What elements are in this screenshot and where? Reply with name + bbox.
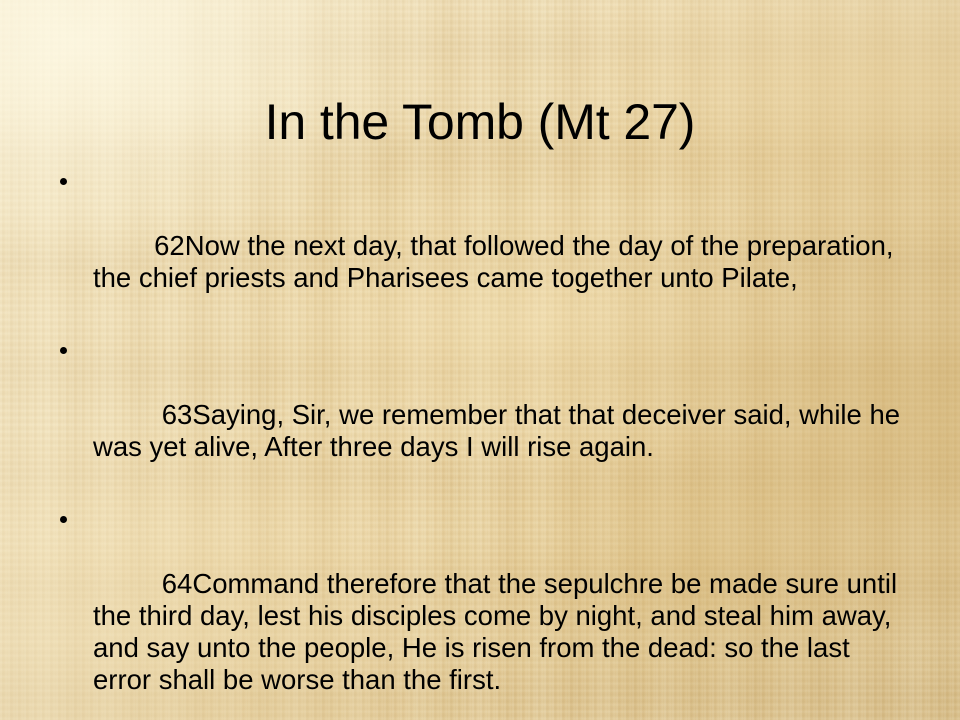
bullet-text: 63Saying, Sir, we remember that that dec… [93,399,908,462]
slide-content: In the Tomb (Mt 27) 62Now the next day, … [0,0,960,720]
bullet-text: 64Command therefore that the sepulchre b… [93,568,905,695]
slide-title: In the Tomb (Mt 27) [0,92,960,152]
scripture-bullet-list: 62Now the next day, that followed the da… [55,166,910,720]
bullet-dot-icon [60,178,67,185]
bullet-dot-icon [60,347,67,354]
bullet-text: 62Now the next day, that followed the da… [93,230,901,293]
presentation-slide: In the Tomb (Mt 27) 62Now the next day, … [0,0,960,720]
bullet-item-verse-62: 62Now the next day, that followed the da… [55,166,910,326]
bullet-item-verse-64: 64Command therefore that the sepulchre b… [55,504,910,720]
bullet-dot-icon [60,516,67,523]
bullet-item-verse-63: 63Saying, Sir, we remember that that dec… [55,335,910,495]
